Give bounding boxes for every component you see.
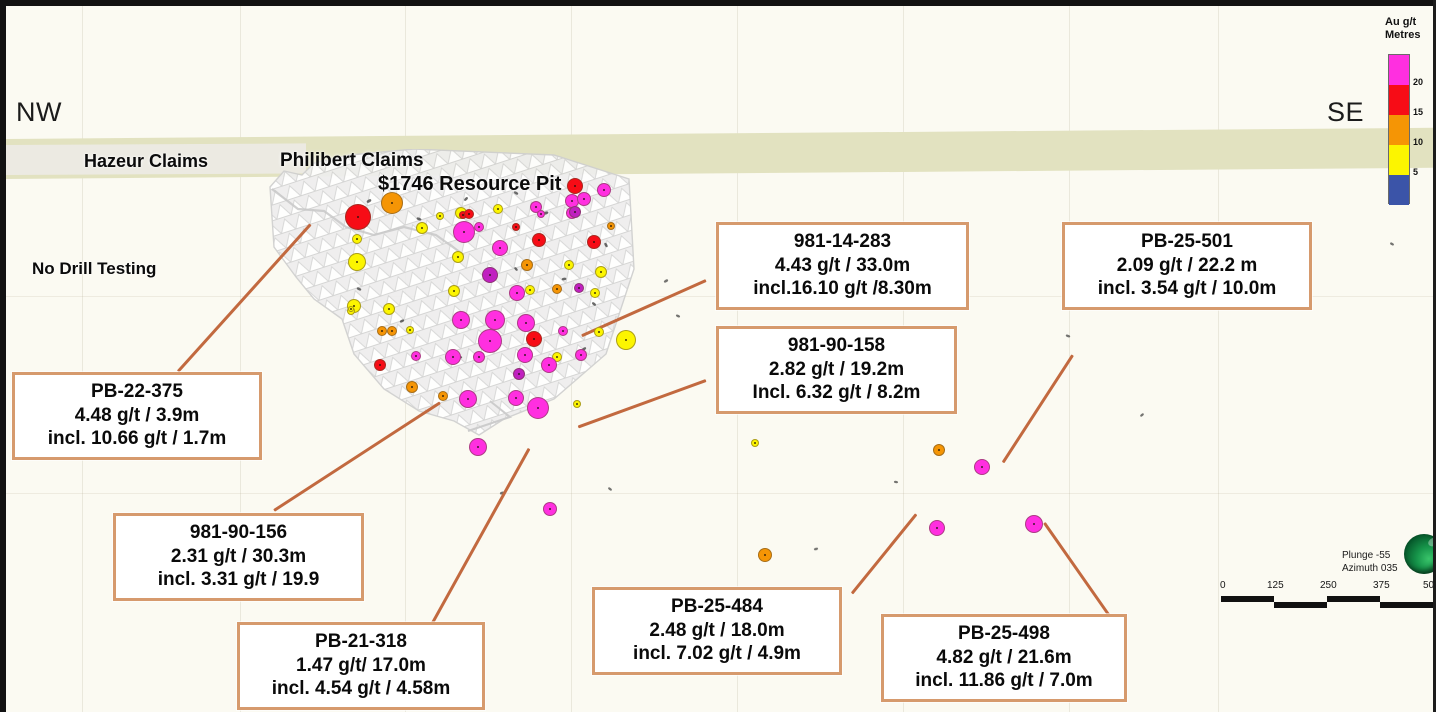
drill-intercept-point (564, 260, 574, 270)
orientation-readout: Plunge -55 Azimuth 035 (1342, 549, 1398, 575)
drill-intercept-point (595, 266, 607, 278)
callout-interval: 1.47 g/t/ 17.0m (250, 654, 472, 678)
legend-colorbar (1388, 54, 1410, 204)
color-legend: Au g/t Metres 20 15 10 5 (1380, 10, 1432, 215)
figure-root: NW SE Hazeur Claims Philibert Claims $17… (0, 0, 1436, 712)
legend-tick-10: 10 (1413, 137, 1423, 147)
drill-intercept-point (933, 444, 945, 456)
scale-tick-375: 375 (1373, 580, 1390, 591)
drill-intercept-point (453, 221, 475, 243)
legend-segment-2 (1389, 115, 1409, 145)
drill-intercept-point (543, 502, 557, 516)
drill-intercept-point (493, 204, 503, 214)
drill-intercept-point (758, 548, 772, 562)
drill-intercept-point (587, 235, 601, 249)
drill-intercept-point (492, 240, 508, 256)
callout-hole-id: 981-90-156 (126, 521, 351, 545)
drill-intercept-point (590, 288, 600, 298)
leader-line-pb-25-498 (1043, 522, 1113, 620)
callout-interval: 4.48 g/t / 3.9m (25, 404, 249, 428)
drill-intercept-point (459, 390, 477, 408)
callout-hole-id: 981-14-283 (729, 230, 956, 254)
callout-included-interval: incl. 11.86 g/t / 7.0m (894, 669, 1114, 693)
drill-intercept-point (469, 438, 487, 456)
callout-hole-id: PB-22-375 (25, 380, 249, 404)
scale-segment-3 (1327, 596, 1380, 602)
callout-pb-25-501[interactable]: PB-25-5012.09 g/t / 22.2 mincl. 3.54 g/t… (1062, 222, 1312, 310)
callout-981-14-283[interactable]: 981-14-2834.43 g/t / 33.0mincl.16.10 g/t… (716, 222, 969, 310)
drill-intercept-point (537, 210, 545, 218)
gridline-horizontal (6, 493, 1433, 494)
drill-intercept-point (577, 192, 591, 206)
scale-segment-1 (1221, 596, 1274, 602)
drill-intercept-point (597, 183, 611, 197)
drill-intercept-point (436, 212, 444, 220)
drill-intercept-point (406, 326, 414, 334)
drill-intercept-point (574, 283, 584, 293)
gridline-vertical (82, 6, 83, 712)
callout-hole-id: PB-21-318 (250, 630, 472, 654)
drill-intercept-point (411, 351, 421, 361)
gridline-vertical (240, 6, 241, 712)
callout-interval: 2.09 g/t / 22.2 m (1075, 254, 1299, 278)
drill-intercept-point (482, 267, 498, 283)
drill-intercept-point (445, 349, 461, 365)
drill-intercept-point (345, 204, 371, 230)
callout-pb-25-498[interactable]: PB-25-4984.82 g/t / 21.6mincl. 11.86 g/t… (881, 614, 1127, 702)
drill-intercept-point (512, 223, 520, 231)
callout-interval: 2.82 g/t / 19.2m (729, 358, 944, 382)
drill-intercept-point (974, 459, 990, 475)
drill-intercept-point (416, 222, 428, 234)
leader-line-pb-25-484 (851, 513, 918, 594)
drill-intercept-point (517, 347, 533, 363)
drill-intercept-point (473, 351, 485, 363)
drill-intercept-point (452, 311, 470, 329)
callout-interval: 4.82 g/t / 21.6m (894, 646, 1114, 670)
scale-tick-250: 250 (1320, 580, 1337, 591)
drill-intercept-point (541, 357, 557, 373)
drill-intercept-point (485, 310, 505, 330)
gridline-vertical (1218, 6, 1219, 712)
callout-hole-id: PB-25-501 (1075, 230, 1299, 254)
legend-segment-3 (1389, 145, 1409, 175)
callout-included-interval: incl. 4.54 g/t / 4.58m (250, 677, 472, 701)
scale-segment-2 (1274, 602, 1327, 608)
drill-intercept-point (521, 259, 533, 271)
drill-intercept-point (478, 329, 502, 353)
direction-label-nw: NW (16, 97, 62, 128)
callout-included-interval: incl. 10.66 g/t / 1.7m (25, 427, 249, 451)
drill-intercept-point (929, 520, 945, 536)
drill-intercept-point (374, 359, 386, 371)
drill-intercept-point (525, 285, 535, 295)
callout-pb-22-375[interactable]: PB-22-3754.48 g/t / 3.9mincl. 10.66 g/t … (12, 372, 262, 460)
label-philibert-claims: Philibert Claims (280, 150, 424, 172)
scale-tick-500: 500 (1423, 580, 1433, 591)
callout-hole-id: PB-25-498 (894, 622, 1114, 646)
callout-hole-id: 981-90-158 (729, 334, 944, 358)
label-no-drill-testing: No Drill Testing (32, 259, 156, 279)
scale-tick-125: 125 (1267, 580, 1284, 591)
drill-intercept-point (594, 327, 604, 337)
legend-segment-4 (1389, 175, 1409, 205)
drill-intercept-point (558, 326, 568, 336)
drill-intercept-point (377, 326, 387, 336)
callout-included-interval: incl. 3.31 g/t / 19.9 (126, 568, 351, 592)
drill-intercept-point (532, 233, 546, 247)
callout-pb-25-484[interactable]: PB-25-4842.48 g/t / 18.0mincl. 7.02 g/t … (592, 587, 842, 675)
legend-tick-15: 15 (1413, 107, 1423, 117)
drill-intercept-point (348, 306, 354, 312)
callout-981-90-156[interactable]: 981-90-1562.31 g/t / 30.3mincl. 3.31 g/t… (113, 513, 364, 601)
legend-segment-1 (1389, 85, 1409, 115)
callout-981-90-158[interactable]: 981-90-1582.82 g/t / 19.2mIncl. 6.32 g/t… (716, 326, 957, 414)
drill-intercept-point (552, 284, 562, 294)
drill-intercept-point (575, 349, 587, 361)
frame-border-top (0, 0, 1436, 6)
scale-tick-0: 0 (1220, 580, 1226, 591)
callout-pb-21-318[interactable]: PB-21-3181.47 g/t/ 17.0mincl. 4.54 g/t /… (237, 622, 485, 710)
drill-intercept-point (509, 285, 525, 301)
drill-intercept-point (526, 331, 542, 347)
drill-intercept-point (406, 381, 418, 393)
drill-intercept-point (517, 314, 535, 332)
drill-intercept-point (464, 209, 474, 219)
drill-intercept-point (513, 368, 525, 380)
drill-intercept-point (607, 222, 615, 230)
leader-line-pb-25-501 (1002, 354, 1074, 463)
map-canvas: NW SE Hazeur Claims Philibert Claims $17… (6, 6, 1433, 712)
drill-intercept-point (452, 251, 464, 263)
callout-included-interval: Incl. 6.32 g/t / 8.2m (729, 381, 944, 405)
drill-intercept-point (438, 391, 448, 401)
callout-included-interval: incl. 3.54 g/t / 10.0m (1075, 277, 1299, 301)
frame-border-left (0, 0, 6, 712)
drill-intercept-point (569, 206, 581, 218)
label-hazeur-claims: Hazeur Claims (84, 151, 208, 172)
label-resource-pit: $1746 Resource Pit (378, 173, 561, 196)
azimuth-value: Azimuth 035 (1342, 563, 1398, 574)
callout-hole-id: PB-25-484 (605, 595, 829, 619)
legend-title: Au g/t Metres (1385, 16, 1420, 41)
callout-interval: 2.48 g/t / 18.0m (605, 619, 829, 643)
callout-interval: 4.43 g/t / 33.0m (729, 254, 956, 278)
drill-intercept-point (387, 326, 397, 336)
drill-intercept-point (474, 222, 484, 232)
drill-intercept-point (448, 285, 460, 297)
drill-intercept-point (352, 234, 362, 244)
plunge-value: Plunge -55 (1342, 550, 1390, 561)
legend-title-line1: Au g/t (1385, 16, 1416, 28)
drill-intercept-point (573, 400, 581, 408)
callout-included-interval: incl. 7.02 g/t / 4.9m (605, 642, 829, 666)
direction-label-se: SE (1327, 97, 1364, 128)
drill-intercept-point (383, 303, 395, 315)
legend-tick-20: 20 (1413, 77, 1423, 87)
callout-included-interval: incl.16.10 g/t /8.30m (729, 277, 956, 301)
drill-intercept-point (1025, 515, 1043, 533)
legend-tick-5: 5 (1413, 167, 1418, 177)
legend-title-line2: Metres (1385, 29, 1420, 41)
drill-intercept-point (348, 253, 366, 271)
scale-segment-4 (1380, 602, 1433, 608)
drill-intercept-point (751, 439, 759, 447)
drill-intercept-point (508, 390, 524, 406)
drill-intercept-point (616, 330, 636, 350)
callout-interval: 2.31 g/t / 30.3m (126, 545, 351, 569)
drill-intercept-point (527, 397, 549, 419)
legend-segment-0 (1389, 55, 1409, 85)
